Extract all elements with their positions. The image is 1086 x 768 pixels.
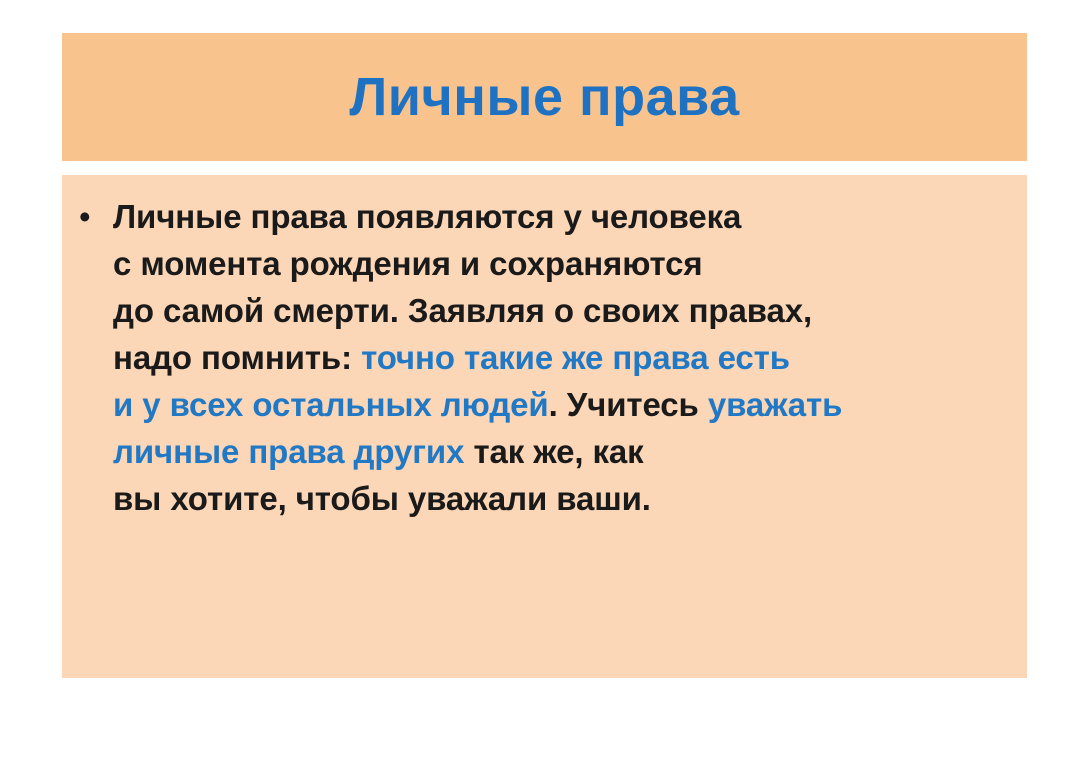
highlighted-text-run: и у всех остальных людей [113, 386, 549, 423]
plain-text-run: с момента рождения и сохраняются [113, 245, 703, 282]
body-text-line: до самой смерти. Заявляя о своих правах, [113, 287, 1017, 334]
body-text-line: личные права других так же, как [113, 428, 1017, 475]
body-text-line: Личные права появляются у человека [113, 193, 1017, 240]
plain-text-run: . Учитесь [549, 386, 708, 423]
slide-title: Личные права [349, 70, 739, 124]
presentation-slide: Личные права • Личные права появляются у… [0, 0, 1086, 768]
slide-body-panel: • Личные права появляются у человекас мо… [62, 175, 1027, 678]
bullet-point-icon: • [75, 193, 113, 240]
plain-text-run: вы хотите, чтобы уважали ваши. [113, 480, 651, 517]
body-text-line: надо помнить: точно такие же права есть [113, 334, 1017, 381]
bullet-item-text: Личные права появляются у человекас моме… [113, 193, 1017, 522]
body-text-line: и у всех остальных людей. Учитесь уважат… [113, 381, 1017, 428]
slide-title-bar: Личные права [62, 33, 1027, 161]
body-text-line: вы хотите, чтобы уважали ваши. [113, 475, 1017, 522]
plain-text-run: до самой смерти. Заявляя о своих правах, [113, 292, 812, 329]
bullet-list-item: • Личные права появляются у человекас мо… [75, 193, 1017, 522]
plain-text-run: надо помнить: [113, 339, 361, 376]
highlighted-text-run: точно такие же права есть [361, 339, 790, 376]
highlighted-text-run: уважать [708, 386, 842, 423]
highlighted-text-run: личные права других [113, 433, 464, 470]
plain-text-run: так же, как [464, 433, 643, 470]
plain-text-run: Личные права появляются у человека [113, 198, 741, 235]
body-text-line: с момента рождения и сохраняются [113, 240, 1017, 287]
